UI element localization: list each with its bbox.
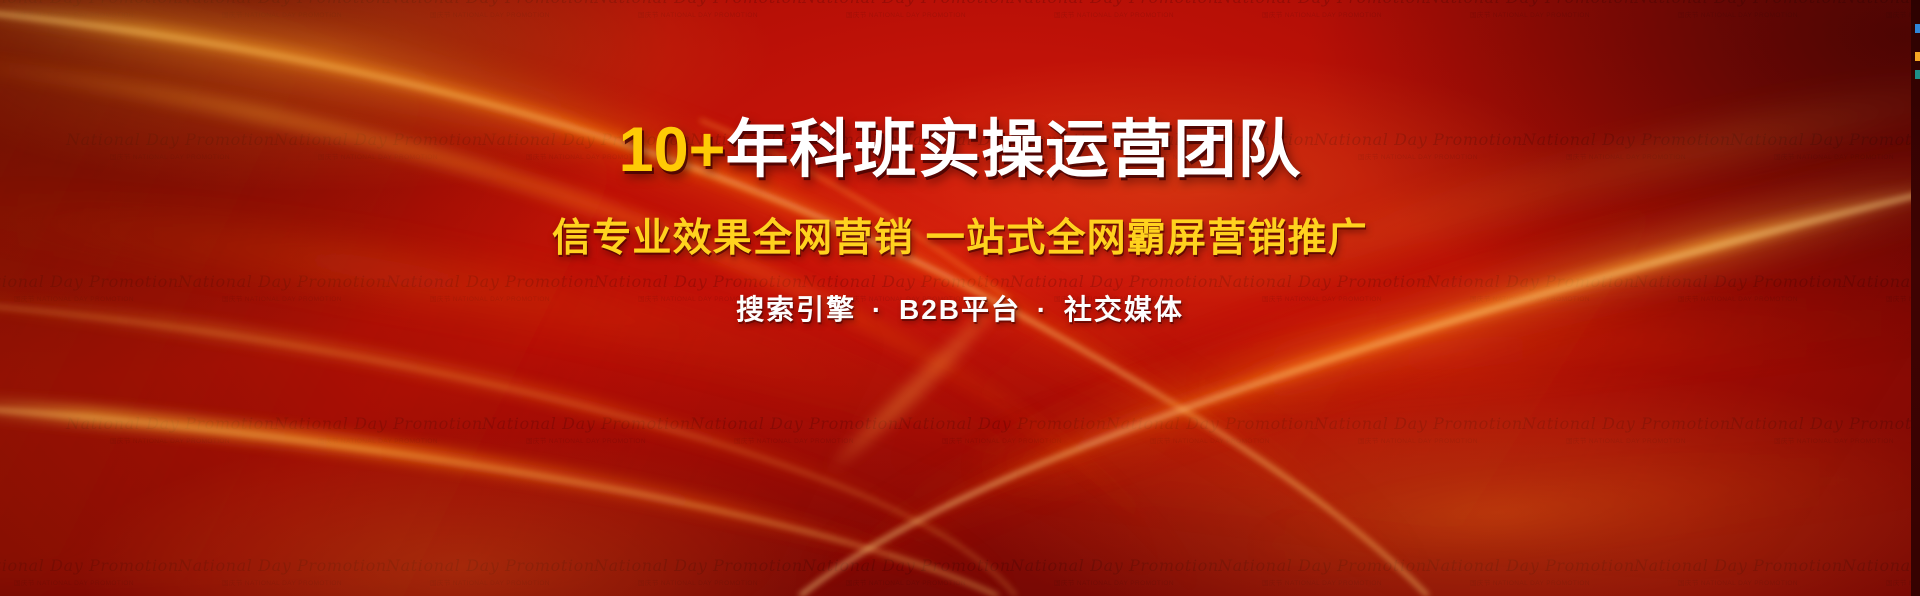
edge-pip-2 — [1915, 52, 1920, 61]
subtitle: 信专业效果全网营销 一站式全网霸屏营销推广 — [552, 207, 1368, 263]
edge-pip-3 — [1915, 70, 1920, 79]
headline-accent: 10+ — [619, 115, 726, 185]
banner-content: 10+年科班实操运营团队 信专业效果全网营销 一站式全网霸屏营销推广 搜索引擎 … — [0, 0, 1920, 596]
tagline-item-b2b-platform: B2B平台 — [899, 294, 1021, 325]
tagline-item-social-media: 社交媒体 — [1064, 294, 1184, 325]
tagline-separator-1: · — [872, 294, 883, 325]
edge-pip-1 — [1915, 24, 1920, 33]
promotional-banner: National Day Promotion国庆节 NATIONAL DAY P… — [0, 0, 1920, 596]
tagline-separator-2: · — [1037, 294, 1048, 325]
tagline-item-search-engine: 搜索引擎 — [736, 294, 856, 325]
headline-main: 年科班实操运营团队 — [725, 115, 1301, 185]
right-edge-strip — [1911, 0, 1920, 596]
tagline: 搜索引擎 · B2B平台 · 社交媒体 — [736, 288, 1184, 328]
headline: 10+年科班实操运营团队 — [619, 118, 1302, 184]
